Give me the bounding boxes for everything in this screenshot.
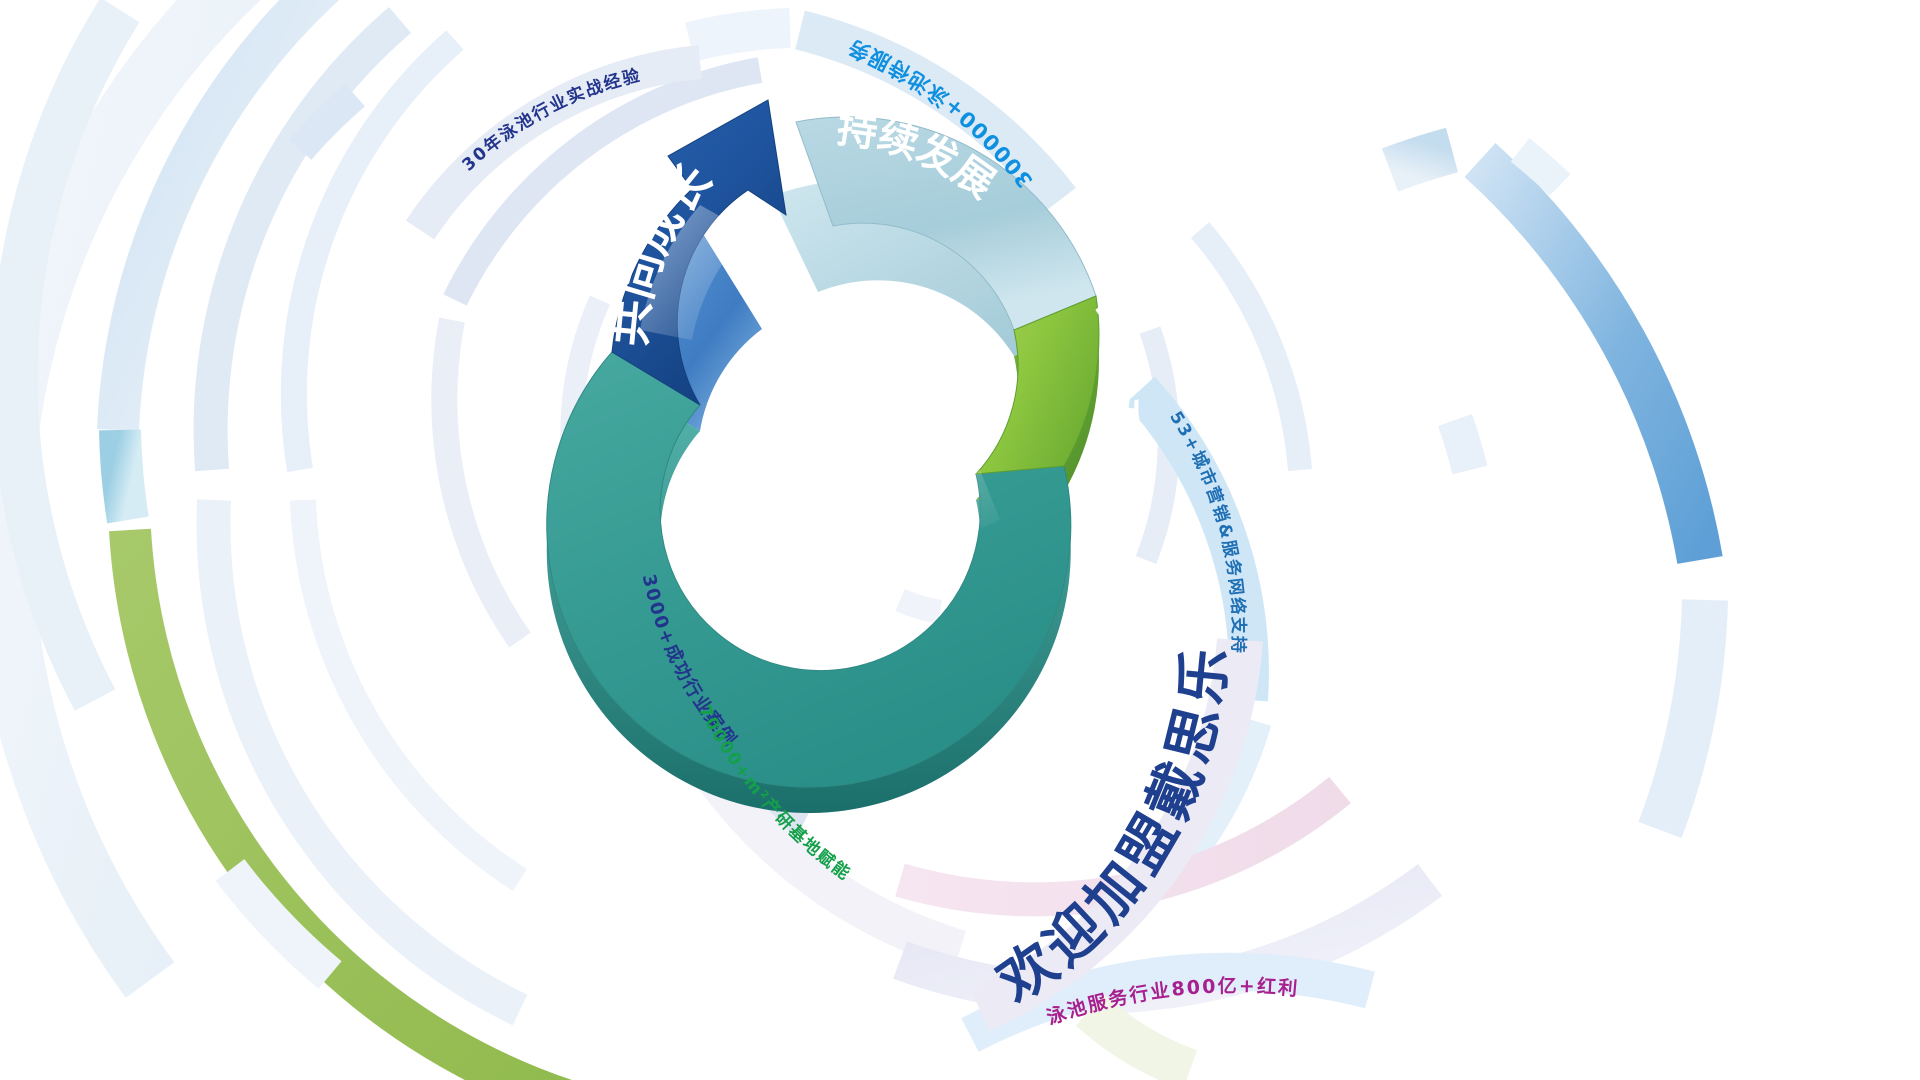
poster-canvas: 共同成长 持续发展 分享利益 赋能行业 30年泳池行业实战经验 300000+泳… [0, 0, 1920, 1080]
decor-arc-halo-left [444, 320, 520, 640]
decor-arc-right-blue-top [1390, 150, 1452, 170]
decor-arc-right-blue [1480, 160, 1700, 560]
poster-illustration: 共同成长 持续发展 分享利益 赋能行业 30年泳池行业实战经验 300000+泳… [0, 0, 1920, 1080]
decor-arc-halo-right [1200, 230, 1300, 470]
decor-arc-top-ribbon-2 [690, 28, 790, 42]
decor-chip-inner-white [900, 600, 940, 612]
decor-arc-left-sky [120, 430, 128, 520]
decor-arc-right-pale [1660, 600, 1705, 830]
decor-chip-pale-green2 [1090, 1010, 1190, 1070]
decor-chip-right-sm [1455, 420, 1470, 470]
segment-label-empower: 赋能行业 [743, 463, 960, 567]
